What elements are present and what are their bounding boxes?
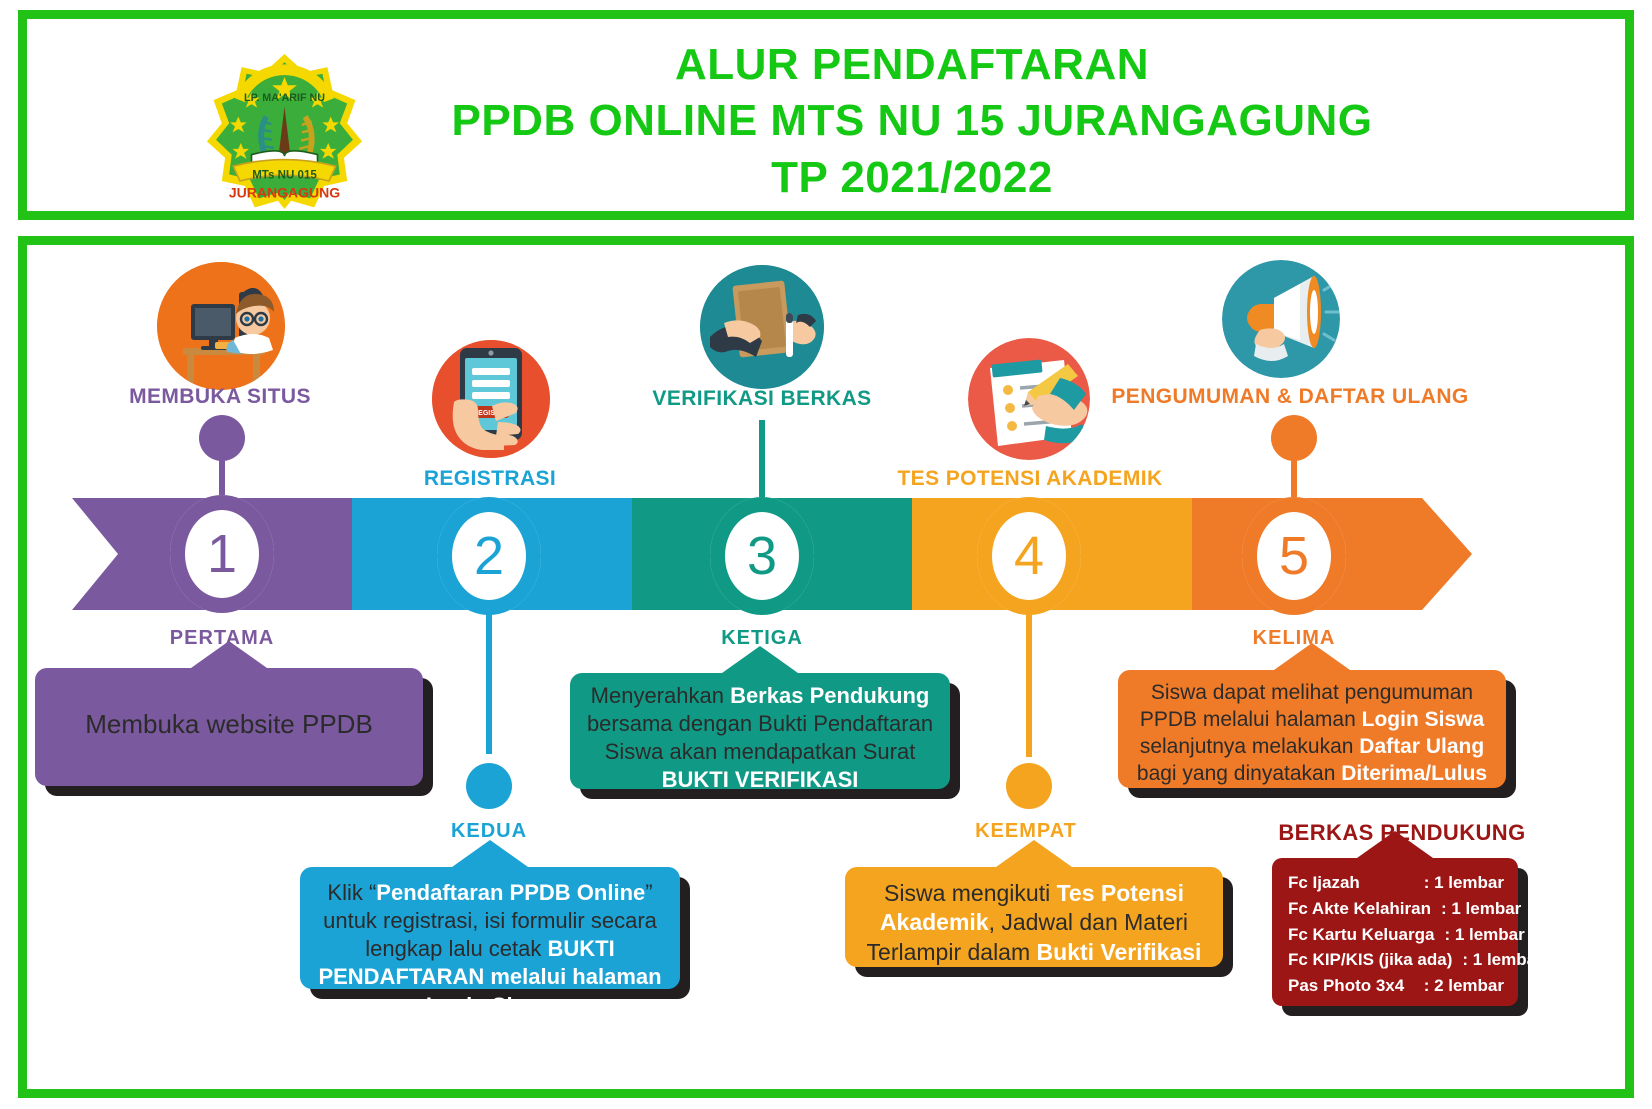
- step-4-notch: [996, 840, 1072, 867]
- step-2-notch: [452, 840, 528, 867]
- step-1-description: Membuka website PPDB: [35, 668, 423, 753]
- desk-computer-student-icon: [157, 262, 285, 390]
- title-line-3: TP 2021/2022: [407, 150, 1417, 206]
- berkas-item-row: Fc KIP/KIS (jika ada): 1 lembar: [1288, 947, 1504, 973]
- step-4-number-badge: 4: [977, 497, 1081, 615]
- step-5-description-box: Siswa dapat melihat pengumuman PPDB mela…: [1118, 670, 1506, 788]
- checklist-pencil-hand-icon: [968, 338, 1090, 460]
- step-5-number-badge: 5: [1242, 497, 1346, 615]
- title-line-1: ALUR PENDAFTARAN: [407, 37, 1417, 93]
- berkas-item-row: Pas Photo 3x4: 2 lembar: [1288, 973, 1504, 999]
- step-2-description: Klik “Pendaftaran PPDB Online” untuk reg…: [300, 867, 680, 1032]
- page-title: ALUR PENDAFTARAN PPDB ONLINE MTS NU 15 J…: [407, 37, 1417, 206]
- step-3-description: Menyerahkan Berkas Pendukung bersama den…: [570, 673, 950, 807]
- step-3-notch: [722, 646, 798, 673]
- step-2-connector-stem: [486, 612, 492, 754]
- berkas-item-label: Fc Kartu Keluarga: [1288, 922, 1434, 948]
- hand-folder-document-icon: [700, 265, 824, 389]
- step-5-headline: PENGUMUMAN & DAFTAR ULANG: [1110, 385, 1470, 409]
- berkas-item-label: Fc KIP/KIS (jika ada): [1288, 947, 1452, 973]
- berkas-pendukung-list: Fc Ijazah: 1 lembarFc Akte Kelahiran: 1 …: [1272, 858, 1518, 999]
- berkas-item-value: : 1 lembar: [1434, 922, 1524, 948]
- berkas-item-value: : 1 lembar: [1414, 870, 1504, 896]
- step-2-description-box: Klik “Pendaftaran PPDB Online” untuk reg…: [300, 867, 680, 989]
- step-5-number: 5: [1257, 512, 1331, 600]
- logo-ribbon-text: MTs NU 015: [252, 170, 317, 182]
- berkas-pendukung-box: Fc Ijazah: 1 lembarFc Akte Kelahiran: 1 …: [1272, 858, 1518, 1006]
- berkas-item-row: Fc Ijazah: 1 lembar: [1288, 870, 1504, 896]
- step-1-notch: [191, 641, 267, 668]
- step-5-description: Siswa dapat melihat pengumuman PPDB mela…: [1118, 670, 1506, 800]
- berkas-notch: [1357, 831, 1433, 858]
- step-3-connector-stem: [759, 420, 765, 500]
- berkas-item-label: Fc Akte Kelahiran: [1288, 896, 1431, 922]
- step-4-number: 4: [992, 512, 1066, 600]
- berkas-item-row: Fc Akte Kelahiran: 1 lembar: [1288, 896, 1504, 922]
- berkas-item-label: Fc Ijazah: [1288, 870, 1360, 896]
- step-2-connector-dot: [466, 763, 512, 809]
- logo-bottom-text: JURANGAGUNG: [229, 185, 340, 201]
- step-4-description: Siswa mengikuti Tes Potensi Akademik, Ja…: [845, 867, 1223, 979]
- logo-top-text: LP. MA'ARIF NU: [244, 92, 325, 104]
- step-1-icon-circle: [157, 262, 285, 390]
- step-2-headline: REGISTRASI: [340, 467, 640, 491]
- step-4-description-box: Siswa mengikuti Tes Potensi Akademik, Ja…: [845, 867, 1223, 967]
- berkas-item-value: : 1 lembar: [1452, 947, 1542, 973]
- step-3-headline: VERIFIKASI BERKAS: [612, 387, 912, 411]
- step-1-description-box: Membuka website PPDB: [35, 668, 423, 786]
- step-5-notch: [1274, 643, 1350, 670]
- school-logo: LP. MA'ARIF NU MTs NU 015 JURANGAGUNG: [202, 49, 367, 214]
- step-1-number-badge: 1: [170, 495, 274, 613]
- step-3-number-badge: 3: [710, 497, 814, 615]
- berkas-item-value: : 2 lembar: [1414, 973, 1504, 999]
- step-4-connector-dot: [1006, 763, 1052, 809]
- megaphone-announcement-icon: [1222, 260, 1340, 378]
- step-2-number-badge: 2: [437, 497, 541, 615]
- step-4-icon-circle: [968, 338, 1090, 460]
- tablet-register-hand-icon: REGISTER: [432, 340, 550, 458]
- header-frame: LP. MA'ARIF NU MTs NU 015 JURANGAGUNG AL…: [18, 10, 1634, 220]
- step-3-icon-circle: [700, 265, 824, 389]
- step-2-number: 2: [452, 512, 526, 600]
- step-4-headline: TES POTENSI AKADEMIK: [870, 467, 1190, 491]
- step-1-number: 1: [185, 510, 259, 598]
- berkas-item-row: Fc Kartu Keluarga: 1 lembar: [1288, 922, 1504, 948]
- title-line-2: PPDB ONLINE MTS NU 15 JURANGAGUNG: [407, 93, 1417, 149]
- step-3-description-box: Menyerahkan Berkas Pendukung bersama den…: [570, 673, 950, 789]
- berkas-item-value: : 1 lembar: [1431, 896, 1521, 922]
- berkas-item-label: Pas Photo 3x4: [1288, 973, 1404, 999]
- step-1-headline: MEMBUKA SITUS: [60, 385, 380, 409]
- step-2-icon-circle: REGISTER: [432, 340, 550, 458]
- step-5-icon-circle: [1222, 260, 1340, 378]
- step-4-connector-stem: [1026, 612, 1032, 757]
- step-3-number: 3: [725, 512, 799, 600]
